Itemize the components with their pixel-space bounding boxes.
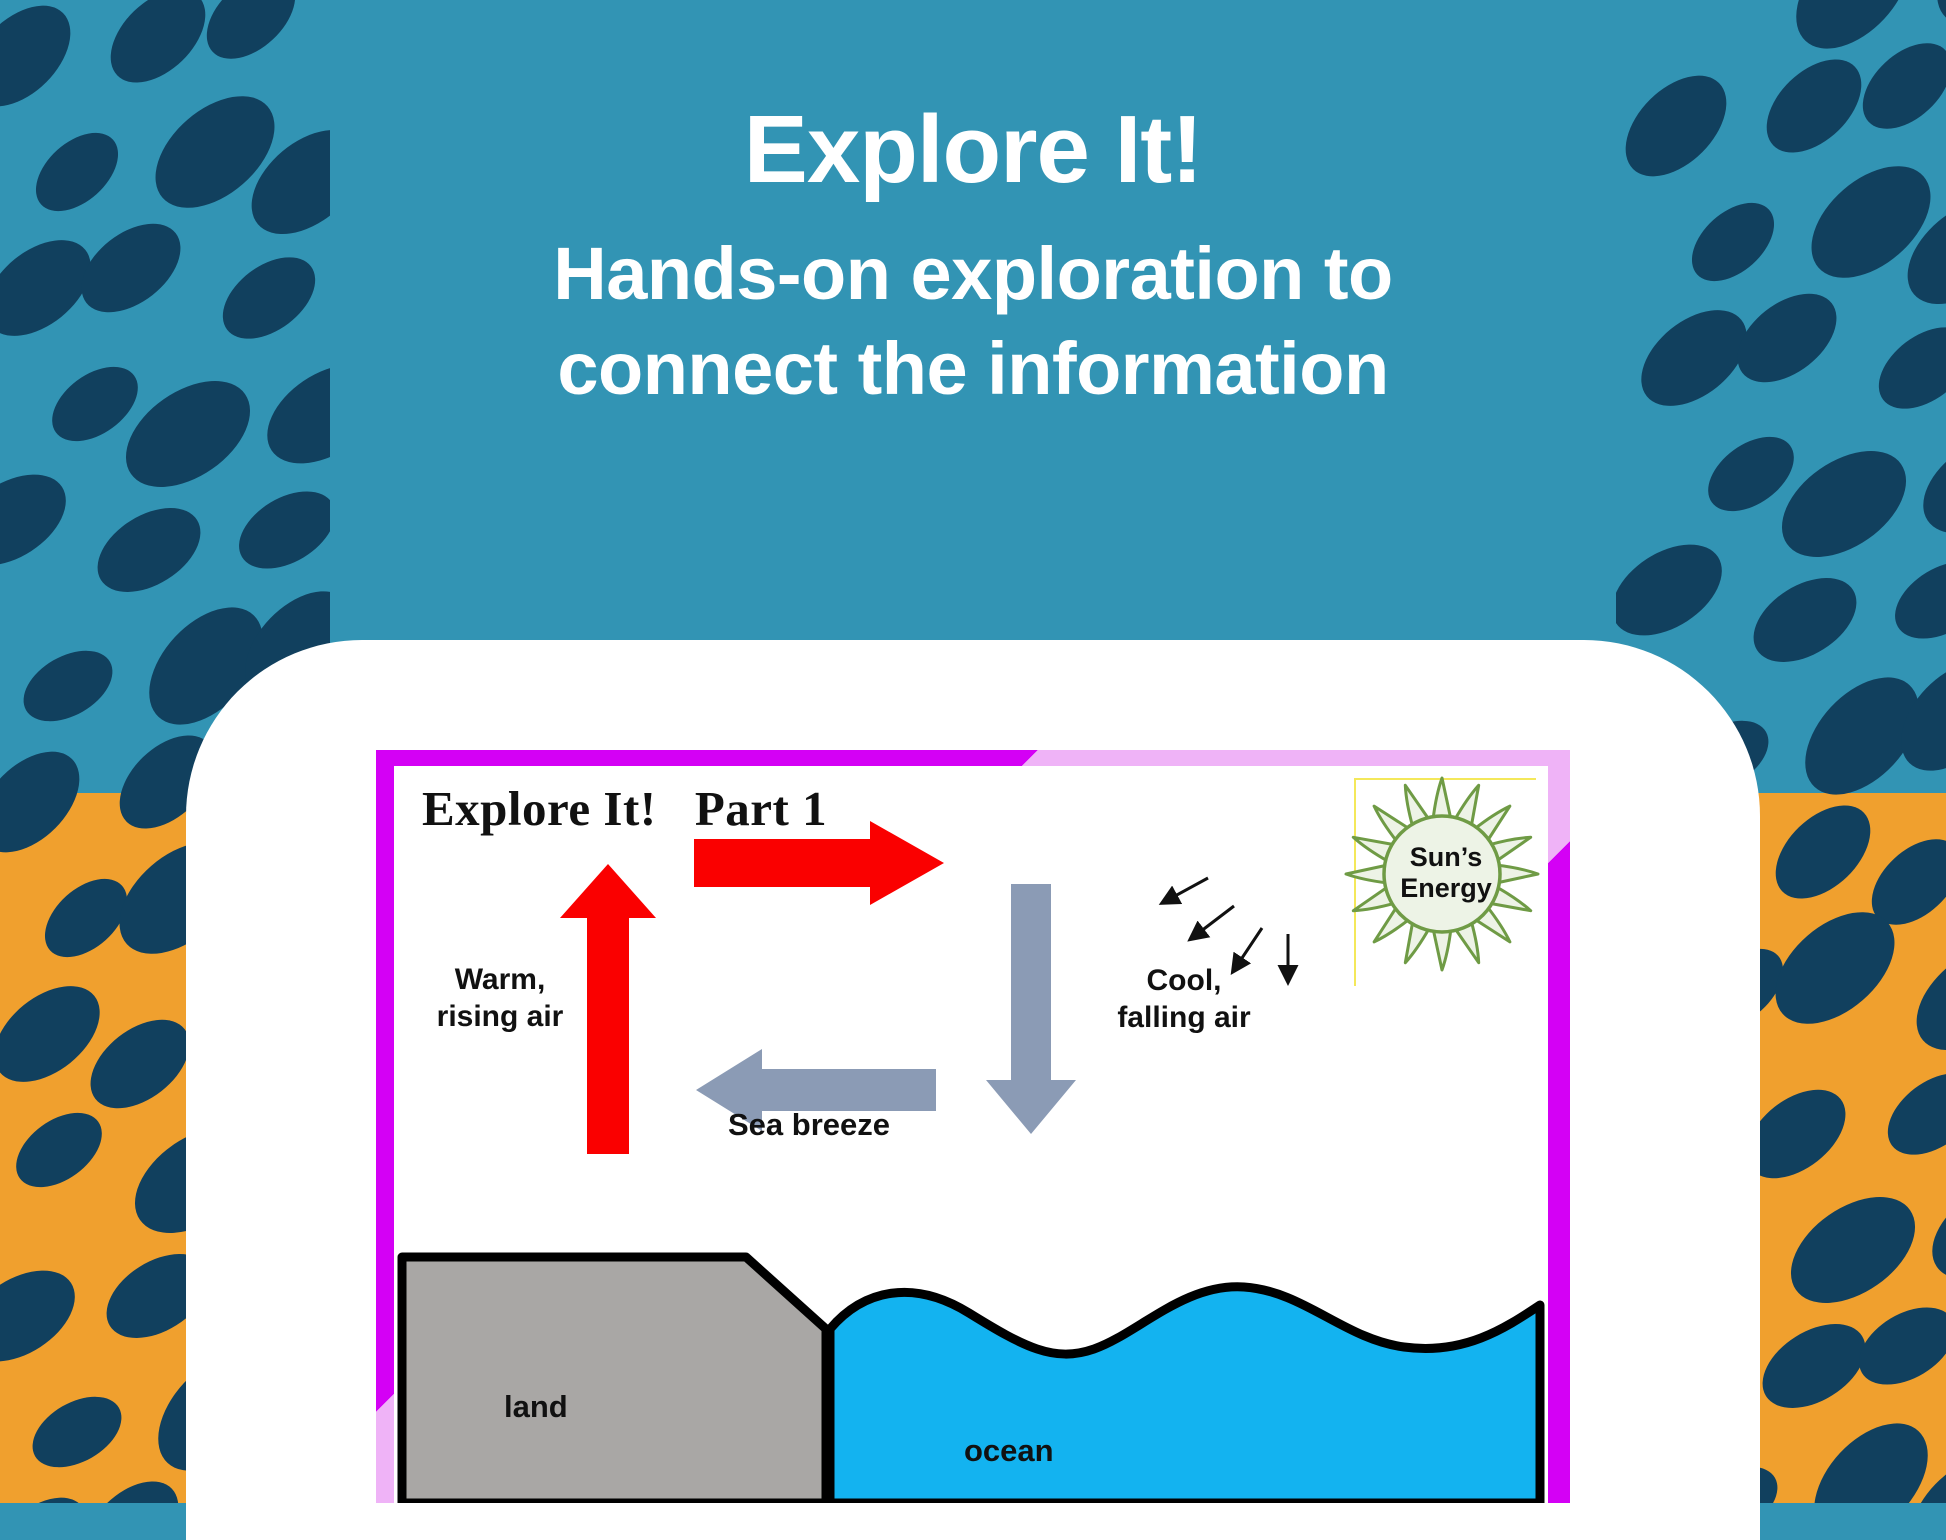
sun-icon (1344, 774, 1540, 990)
sun-energy-box: Sun’s Energy (1354, 778, 1536, 986)
decorative-dot (1914, 1160, 1946, 1299)
label-cool-line-1: Cool, (1074, 962, 1294, 999)
decorative-dot (20, 1382, 133, 1482)
land-shape (402, 1257, 826, 1503)
decorative-dot (1881, 545, 1946, 654)
decorative-dot (0, 1252, 91, 1380)
decorative-dot (0, 1479, 107, 1503)
decorative-dot (1792, 1402, 1946, 1503)
decorative-dot (1905, 414, 1946, 553)
decorative-dot (0, 733, 98, 871)
label-warm-line-2: rising air (410, 998, 590, 1035)
label-sea-breeze: Sea breeze (694, 1107, 924, 1143)
heading-block: Explore It! Hands-on exploration to conn… (0, 0, 1946, 416)
diagram-canvas: Explore It! Part 1 Sun’s Energy (394, 766, 1548, 1503)
decorative-dot (1739, 561, 1872, 680)
decorative-dot (1873, 1057, 1946, 1171)
arrow-warm-air-seaward (694, 821, 944, 905)
subtitle-line-2: connect the information (0, 322, 1946, 417)
decorative-dot (0, 456, 82, 584)
decorative-dot (1616, 526, 1738, 654)
sun-ray (1433, 928, 1451, 970)
decorative-dot (1897, 925, 1946, 1070)
decorative-dot (66, 1464, 196, 1503)
sun-ray (1433, 778, 1451, 820)
decorative-dot (83, 491, 216, 610)
label-cool-falling-air: Cool, falling air (1074, 962, 1294, 1036)
subtitle-line-1: Hands-on exploration to (0, 227, 1946, 322)
label-ocean: ocean (964, 1433, 1054, 1469)
diagram-frame: Explore It! Part 1 Sun’s Energy (376, 750, 1570, 1503)
decorative-dot (1758, 788, 1888, 916)
decorative-dot (11, 636, 124, 736)
sun-ray (1496, 865, 1538, 883)
label-land: land (504, 1389, 568, 1425)
decorative-dot (225, 475, 330, 584)
label-cool-line-2: falling air (1074, 999, 1294, 1036)
sun-ray (1346, 865, 1388, 883)
ocean-shape (830, 1287, 1540, 1503)
decorative-dot (1772, 1175, 1935, 1324)
label-warm-line-1: Warm, (410, 961, 590, 998)
page-subtitle: Hands-on exploration to connect the info… (0, 227, 1946, 416)
arrow-cool-falling-air (986, 884, 1076, 1134)
decorative-dot (3, 1098, 116, 1203)
page-title: Explore It! (0, 100, 1946, 201)
label-warm-rising-air: Warm, rising air (410, 961, 590, 1035)
